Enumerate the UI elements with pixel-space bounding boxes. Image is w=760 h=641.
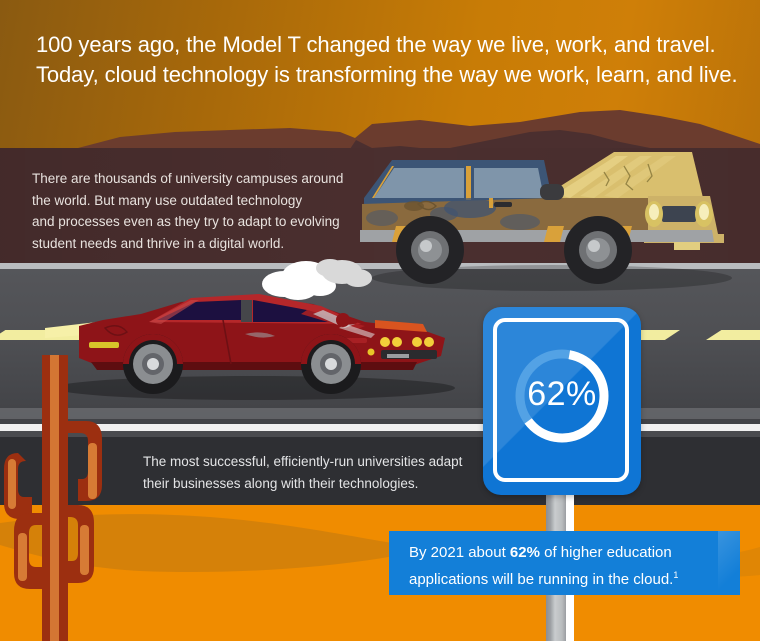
upper-paragraph: There are thousands of university campus… xyxy=(32,168,362,254)
headline-line-1: 100 years ago, the Model T changed the w… xyxy=(36,30,736,60)
callout-prefix: By 2021 about xyxy=(409,544,510,561)
upper-paragraph-line-3: and processes even as they try to adapt … xyxy=(32,211,362,233)
callout-text: By 2021 about 62% of higher education ap… xyxy=(409,541,729,591)
callout-highlight: 62% xyxy=(510,544,540,561)
lower-paragraph-line-1: The most successful, efficiently-run uni… xyxy=(143,451,483,473)
cactus xyxy=(0,355,130,641)
upper-paragraph-line-1: There are thousands of university campus… xyxy=(32,168,362,190)
page-title: 100 years ago, the Model T changed the w… xyxy=(36,30,736,90)
headline-line-2: Today, cloud technology is transforming … xyxy=(36,60,736,90)
percent-label: 62% xyxy=(483,375,641,414)
infographic-canvas: 100 years ago, the Model T changed the w… xyxy=(0,0,760,641)
upper-paragraph-line-2: the world. But many use outdated technol… xyxy=(32,190,362,212)
callout-footnote-marker: 1 xyxy=(673,570,678,580)
upper-paragraph-line-4: student needs and thrive in a digital wo… xyxy=(32,233,362,255)
old-suv xyxy=(352,138,752,298)
lower-paragraph-line-2: their businesses along with their techno… xyxy=(143,473,483,495)
lower-paragraph: The most successful, efficiently-run uni… xyxy=(143,451,483,494)
